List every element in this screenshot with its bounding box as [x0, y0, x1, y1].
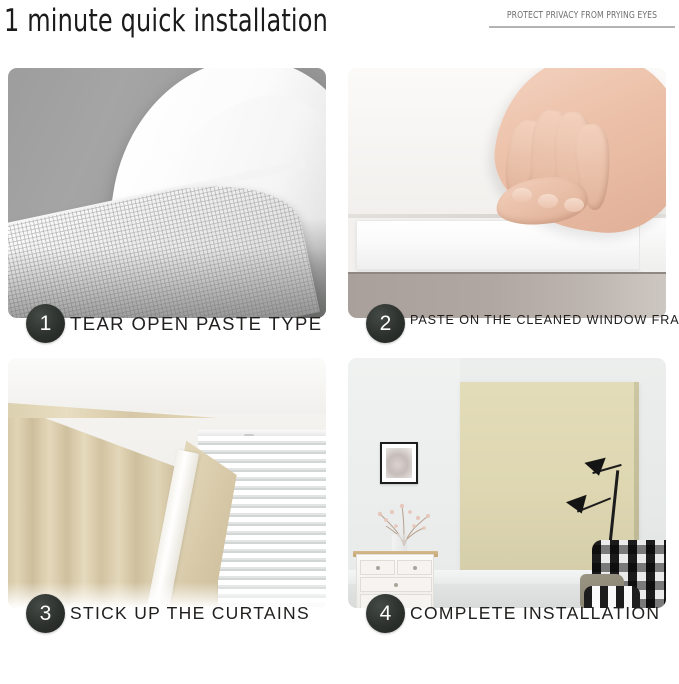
dresser-knob-1 — [376, 566, 380, 570]
step-4-photo — [348, 358, 666, 608]
step-card-3: 3 STICK UP THE CURTAINS — [8, 358, 326, 640]
step-card-1: 1 TEAR OPEN PASTE TYPE — [8, 68, 326, 350]
wall-picture-frame — [380, 442, 418, 484]
framed-artwork — [386, 448, 412, 478]
step-card-4: 4 COMPLETE INSTALLATION — [348, 358, 666, 640]
step-number-badge-1: 1 — [26, 304, 65, 343]
step-1-caption: TEAR OPEN PASTE TYPE — [70, 313, 322, 335]
ceiling-area — [8, 358, 326, 413]
step-3-photo — [8, 358, 326, 608]
steps-grid: 1 TEAR OPEN PASTE TYPE — [0, 62, 679, 684]
adhesive-strip-right-segment — [640, 218, 666, 270]
step-number-badge-3: 3 — [26, 594, 65, 633]
step-3-caption: STICK UP THE CURTAINS — [70, 603, 322, 624]
tagline-block: PROTECT PRIVACY FROM PRYING EYES — [489, 10, 675, 28]
tagline-divider — [489, 26, 675, 28]
step-1-photo — [8, 68, 326, 318]
step-1-caption-row: 1 TEAR OPEN PASTE TYPE — [8, 304, 326, 350]
step-2-photo — [348, 68, 666, 318]
step-3-caption-row: 3 STICK UP THE CURTAINS — [8, 594, 326, 640]
step-4-caption-row: 4 COMPLETE INSTALLATION — [348, 594, 666, 640]
page-title: 1 minute quick installation — [4, 2, 328, 40]
dresser-knob-3 — [394, 583, 398, 587]
fingernail-3 — [564, 198, 584, 212]
step-number-badge-2: 2 — [366, 304, 405, 343]
installation-guide-page: 1 minute quick installation PROTECT PRIV… — [0, 0, 679, 684]
step-number-badge-4: 4 — [366, 594, 405, 633]
fingernail-1 — [512, 188, 532, 202]
step-2-caption: PASTE ON THE CLEANED WINDOW FRAME — [410, 313, 662, 327]
tagline-text: PROTECT PRIVACY FROM PRYING EYES — [498, 10, 665, 21]
page-header: 1 minute quick installation PROTECT PRIV… — [0, 0, 679, 62]
step-4-caption: COMPLETE INSTALLATION — [410, 603, 662, 624]
step-2-caption-row: 2 PASTE ON THE CLEANED WINDOW FRAME — [348, 304, 666, 350]
fingernail-2 — [538, 194, 558, 208]
dresser-knob-2 — [413, 566, 417, 570]
step-card-2: 2 PASTE ON THE CLEANED WINDOW FRAME — [348, 68, 666, 350]
